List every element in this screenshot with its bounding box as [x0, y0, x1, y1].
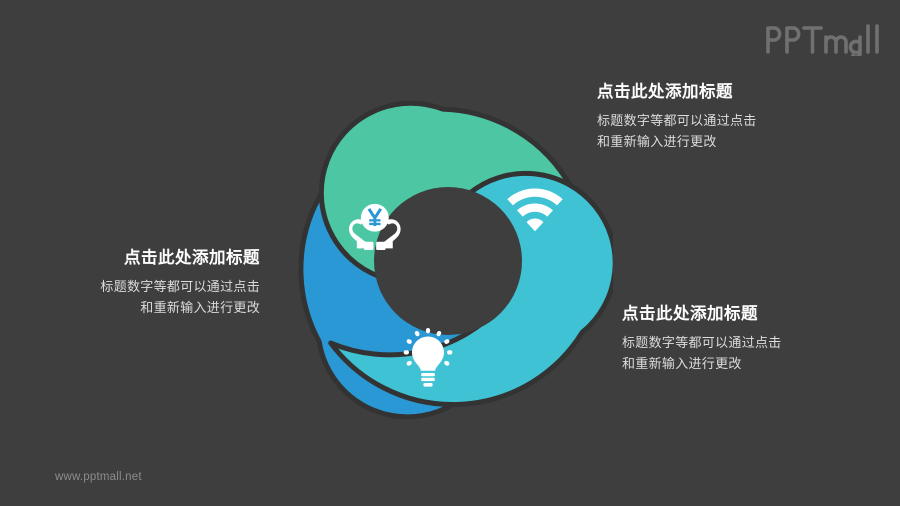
text-block-bottom-right-line-2: 和重新输入进行更改	[622, 353, 892, 374]
footer-url: www.pptmall.net	[55, 471, 142, 483]
pptmall-logo	[763, 22, 883, 56]
text-block-left-title: 点击此处添加标题	[18, 248, 260, 269]
slide-canvas: 点击此处添加标题 标题数字等都可以通过点击 和重新输入进行更改 点击此处添加标题…	[0, 0, 900, 506]
text-block-bottom-right: 点击此处添加标题 标题数字等都可以通过点击 和重新输入进行更改	[622, 304, 892, 374]
text-block-top-right: 点击此处添加标题 标题数字等都可以通过点击 和重新输入进行更改	[597, 82, 867, 152]
swirl-cycle-diagram	[283, 96, 613, 426]
text-block-top-right-line-2: 和重新输入进行更改	[597, 131, 867, 152]
text-block-top-right-line-1: 标题数字等都可以通过点击	[597, 110, 867, 131]
text-block-bottom-right-line-1: 标题数字等都可以通过点击	[622, 332, 892, 353]
diagram-inner-hole	[374, 187, 522, 335]
text-block-left: 点击此处添加标题 标题数字等都可以通过点击 和重新输入进行更改	[18, 248, 260, 318]
text-block-left-line-2: 和重新输入进行更改	[18, 297, 260, 318]
text-block-top-right-title: 点击此处添加标题	[597, 82, 867, 103]
text-block-left-line-1: 标题数字等都可以通过点击	[18, 276, 260, 297]
text-block-bottom-right-title: 点击此处添加标题	[622, 304, 892, 325]
